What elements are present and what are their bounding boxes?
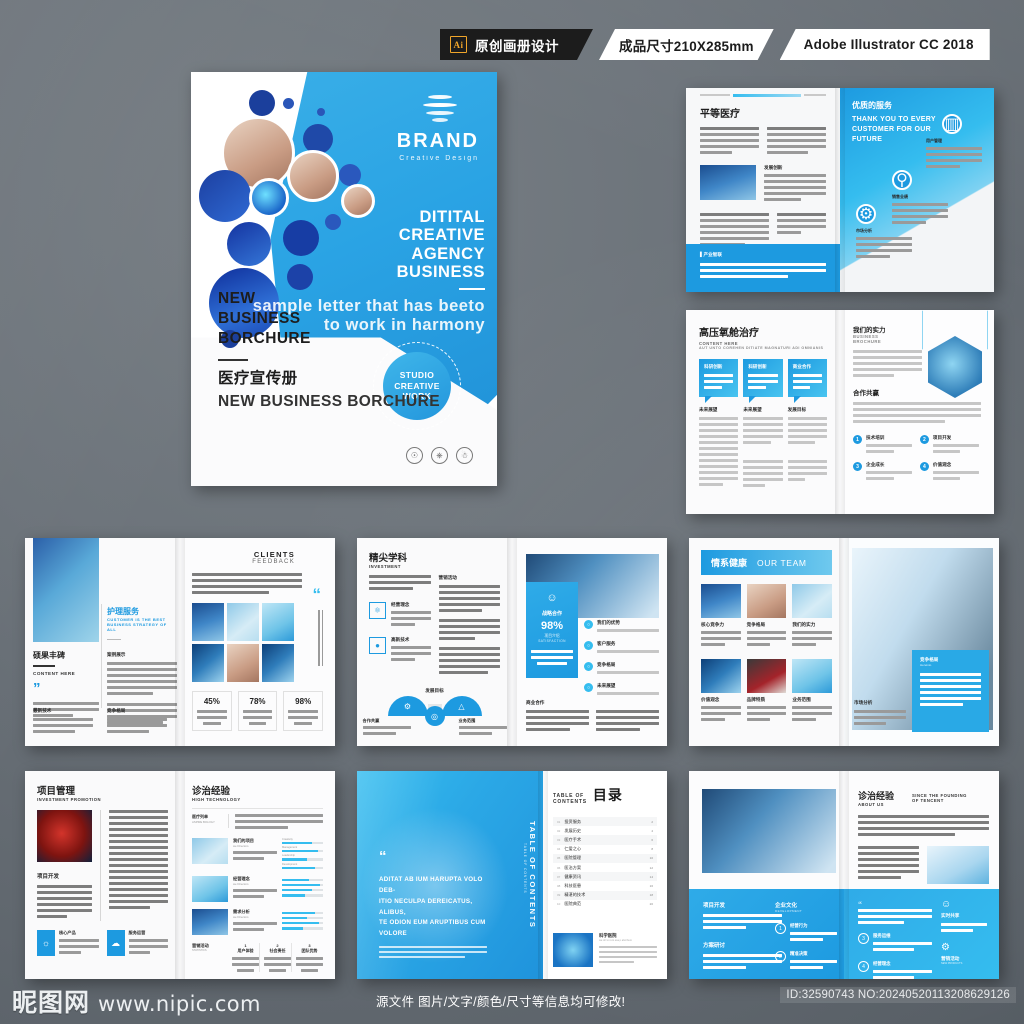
num-badge-4: 4: [920, 462, 929, 471]
brand-block: BRAND Creative Design: [369, 130, 479, 162]
about-title-en: ABOUT US: [858, 802, 894, 807]
numbered-item-4: 4 价值观念: [920, 462, 979, 483]
spread-our-team: 情系健康 OUR TEAM 核心竞争力 竞争格局 我们的实力: [689, 538, 999, 746]
stat-item-2: 2 社会责任: [264, 943, 292, 972]
investment-title: 精尖学科: [369, 550, 500, 564]
site-logo: 昵图网 www.nipic.com: [12, 983, 261, 1019]
trophy-icon: ☺: [941, 899, 987, 910]
our-strength-en-2: BROCHURE: [853, 339, 922, 344]
toc-row[interactable]: 07健康资讯14: [553, 872, 657, 881]
toc-row[interactable]: 06医治方案12: [553, 863, 657, 872]
list-label-1: 我们的优势: [597, 620, 659, 626]
card-1-sub: 未来展望: [699, 407, 738, 413]
blue-label-3: 服务运维: [873, 933, 932, 939]
spread-table-of-contents: “ ADITAT AB IUM HARUPTA VOLO DEB- ITIO N…: [357, 771, 667, 979]
spread-about-us: 项目开发 方案研讨 企业文化 DEVELOPMENT 1 经营行为 2 精准决策: [689, 771, 999, 979]
blue-num-4: 4: [858, 961, 869, 972]
nursing-service-title: 护理服务: [107, 606, 177, 617]
ai-icon: Ai: [450, 36, 467, 53]
industry-link-label: ▌产业智联: [700, 252, 826, 258]
toc-row[interactable]: 04仁爱之心8: [553, 845, 657, 854]
team-label-5: 品牌特质: [747, 697, 787, 703]
numbered-item-2: 2 项目开发: [920, 435, 979, 456]
cover-title-1: NEW: [218, 289, 440, 309]
share-icon: ⚙: [388, 696, 428, 716]
num-label-2: 项目开发: [933, 435, 979, 441]
develop-innovate-label: 发展创新: [764, 165, 826, 171]
about-right-en-2: OF TENCENT: [912, 798, 967, 803]
cover-title-3: BORCHURE: [218, 329, 440, 349]
strategy-value: 98%: [531, 620, 573, 632]
num-badge-2: 2: [920, 435, 929, 444]
team-cell-1: 核心竞争力: [701, 584, 741, 649]
step-market-analysis: ⚙ 市场分析: [856, 204, 912, 261]
brand-tagline: Creative Design: [369, 155, 479, 162]
num-label-3: 企业成长: [866, 462, 912, 468]
list-label-4: 未来展望: [597, 683, 659, 689]
card-3: 商业合作 发展目标: [788, 359, 827, 490]
blue-num-item-3: 3 服务运维: [858, 933, 932, 954]
cover-headline-1: DITITAL: [191, 208, 485, 226]
step-user-management: ▥ 用户管理: [926, 114, 982, 171]
cover-headline-3: AGENCY: [191, 245, 485, 263]
step-1-label: 用户管理: [926, 138, 982, 144]
step-3-label: 市场分析: [856, 228, 912, 234]
numbered-item-3: 3 企业成长: [853, 462, 912, 483]
spread-clients-feedback: 硕果丰碑 CONTENT HERE ” 护理服务 CUSTOMER IS THE…: [25, 538, 335, 746]
lock-icon: ⎈: [431, 447, 448, 464]
feature-1: ⚛ 经营理念: [369, 602, 431, 629]
project-mgmt-title: 项目管理: [37, 783, 168, 797]
diag-row-2-sub: we Directors: [233, 882, 277, 886]
quote-open-icon: “: [313, 590, 322, 599]
team-label-6: 业务范围: [792, 697, 832, 703]
achievements-title: 硕果丰碑: [33, 650, 99, 661]
development-goal-label: 发展目标: [357, 688, 512, 694]
achievements-subtitle: CONTENT HERE: [33, 671, 99, 676]
team-label-2: 竞争格局: [747, 622, 787, 628]
bar-label-1d: Development: [282, 863, 323, 866]
corp-culture-label: 企业文化: [775, 901, 837, 909]
user-icon: ☃: [456, 447, 473, 464]
diag-row-3-sub: we Directors: [233, 915, 277, 919]
about-title-cn: 诊治经验: [858, 789, 894, 802]
toc-quote-1: ADITAT AB IUM HARUPTA VOLO DEB-: [379, 875, 487, 897]
ribbon-size-tag: 成品尺寸210X285mm: [599, 29, 774, 60]
blue-far-label-1: 实时共享: [941, 913, 987, 919]
footer-bar: 昵图网 www.nipic.com 源文件 图片/文字/颜色/尺寸等信息均可修改…: [0, 985, 1024, 1024]
bl-card-1-label: 核心产品: [59, 930, 99, 936]
chart-icon: ▥: [942, 114, 962, 134]
num-label-4: 价值观念: [933, 462, 979, 468]
team-banner: 情系健康 OUR TEAM: [701, 550, 832, 575]
blue-num-2: 2: [775, 951, 786, 962]
strategy-panel: ☺ 战略合作 98% 项目介绍 SATISFACTION: [526, 582, 578, 678]
cover-title-divider: [218, 359, 248, 361]
team-label-1: 核心竞争力: [701, 622, 741, 628]
competition-label: 竞争格局: [107, 708, 167, 714]
case-display-label: 案例展示: [107, 652, 177, 658]
step-2-label: 销售业绩: [892, 194, 948, 200]
brand-name: BRAND: [369, 130, 479, 153]
team-banner-cn: 情系健康: [711, 556, 747, 569]
feedback-title: FEEDBACK: [192, 559, 295, 565]
share-icon: ⚙: [941, 942, 987, 953]
toc-card-sub: we oh to rent esa p aborbum: [599, 939, 657, 942]
toc-row[interactable]: 05医院管理10: [553, 854, 657, 863]
card-2-title: 科研创新: [748, 364, 777, 370]
stat-card-3: 98%: [283, 691, 323, 731]
num-badge-3: 3: [853, 462, 862, 471]
top-ribbon: Ai 原创画册设计 成品尺寸210X285mm Adobe Illustrato…: [440, 29, 990, 60]
medical-list-en: ASPIRE BOLOGY: [192, 820, 222, 824]
toc-quote-4: VOLORE: [379, 929, 487, 940]
cover-title-2: BUSINESS: [218, 309, 440, 329]
stat-card-2: 78%: [238, 691, 278, 731]
card-1-title: 科研创新: [704, 364, 733, 370]
competition-card-sub: Hereinto: [920, 663, 981, 667]
cover-title-block: NEW BUSINESS BORCHURE 医疗宣传册 NEW BUSINESS…: [218, 289, 440, 412]
card-2-sub: 未来展望: [743, 407, 782, 413]
spread-project-management: 项目管理 INVESTMENT PROMOTION 项目开发 ☼ 核心产品 ☁ …: [25, 771, 335, 979]
feature-2-label: 高新技术: [391, 637, 431, 643]
diag-row-2: 经营理念 we Directors: [192, 876, 323, 902]
stat-item-3: 3 团队优势: [296, 943, 323, 972]
cover-icon-row: ☉ ⎈ ☃: [406, 447, 473, 464]
bullet-icon-3: ○: [584, 662, 593, 671]
numbered-item-1: 1 技术培训: [853, 435, 912, 456]
num-label-1: 技术培训: [866, 435, 912, 441]
gear-icon: ⚙: [856, 204, 876, 224]
toc-side-label: TABLE OF CONTENTS: [528, 821, 537, 928]
toc-quote-icon: “: [379, 853, 387, 861]
site-logo-cn: 昵图网: [12, 983, 90, 1019]
list-label-2: 客户服务: [597, 641, 659, 647]
toc-row[interactable]: 10医院典范20: [553, 900, 657, 909]
network-icon: ⚛: [369, 602, 386, 619]
clients-title: CLIENTS: [192, 550, 295, 559]
bar-label-1b: Management: [282, 846, 323, 849]
site-logo-url: www.nipic.com: [98, 992, 261, 1016]
team-cell-4: 价值观念: [701, 659, 741, 724]
stat-value-2: 78%: [243, 697, 273, 706]
ribbon-original-label: 原创画册设计: [475, 35, 559, 55]
cover-title-cn: 医疗宣传册: [218, 368, 440, 388]
diag-row-1: 我们的项目 we Directors Creativity Management…: [192, 838, 323, 869]
toc-feature-card: 科学医院 we oh to rent esa p aborbum: [553, 933, 657, 967]
project-mgmt-subtitle: INVESTMENT PROMOTION: [37, 797, 168, 802]
list-label-3: 竞争格局: [597, 662, 659, 668]
card-1: 科研创新 未来展望: [699, 359, 738, 490]
latest-tech-label: 最新技术: [33, 708, 93, 714]
blue-num-item-2: 2 精准决策: [775, 951, 837, 972]
market-analysis-label: 市场分析: [854, 700, 906, 706]
arc-label-1: 合作共赢: [363, 718, 411, 724]
toc-row[interactable]: 01投资服务2: [553, 817, 657, 826]
team-label-3: 我们的实力: [792, 622, 832, 628]
team-banner-en: OUR TEAM: [757, 558, 807, 568]
diag-row-1-sub: we Directors: [233, 844, 277, 848]
card-3-sub: 发展目标: [788, 407, 827, 413]
hyperbaric-title: 高压氧舱治疗: [699, 324, 827, 339]
bullet-icon-2: ○: [584, 641, 593, 650]
card-2: 科研创新 未来展望: [743, 359, 782, 490]
team-label-4: 价值观念: [701, 697, 741, 703]
search-icon: ⚲: [892, 170, 912, 190]
ribbon-original-tag: Ai 原创画册设计: [440, 29, 593, 60]
list-item-2: ○ 客户服务: [584, 641, 659, 656]
blue-far-sub-2: NEW PRODUCTS: [941, 962, 987, 965]
arc-label-2: 业务范围: [459, 718, 507, 724]
cloud-icon: ☁: [107, 930, 125, 956]
team-cell-3: 我们的实力: [792, 584, 832, 649]
bl-card-1: ☼ 核心产品: [37, 930, 99, 957]
toc-quote-3: TE ODION EUM ARUPTIBUS CUM: [379, 918, 487, 929]
cover-page: BRAND Creative Design DITITAL CREATIVE A…: [191, 72, 497, 486]
blue-label-4: 经营理念: [873, 961, 932, 967]
people-icon: ☺: [531, 592, 573, 604]
team-cell-6: 业务范围: [792, 659, 832, 724]
bullet-icon-4: ○: [584, 683, 593, 692]
brand-logo-icon: [423, 92, 457, 126]
toc-row[interactable]: 03医疗手术6: [553, 835, 657, 844]
toc-list: 01投资服务2 02发展历史4 03医疗手术6 04仁爱之心8 05医院管理10…: [553, 817, 657, 909]
toc-quote-2: ITIO NECULPA DEREICATUS, ALIBUS,: [379, 897, 487, 919]
strategy-sub-en: SATISFACTION: [531, 639, 573, 643]
marketing-label: 营销活动: [439, 575, 501, 581]
pin-icon: ●: [369, 637, 386, 654]
hyperbaric-subtitle-2: AUT UNTO COREHEN DITIATE MAGNATURI ADI O…: [699, 346, 827, 350]
stat-value-1: 45%: [197, 697, 227, 706]
corp-culture-sub: DEVELOPMENT: [775, 909, 837, 913]
toc-cn-title: 目录: [593, 785, 623, 805]
bar-label-1c: Leadership: [282, 854, 323, 857]
bar-label-1a: Creativity: [282, 838, 323, 841]
business-coop-label: 商业合作: [526, 700, 659, 706]
spread-equal-medical: 平等医疗 发展创新 ▌产业智联 优质的服务: [686, 88, 994, 292]
cover-headline-4: BUSINESS: [191, 263, 485, 281]
stat-value-3: 98%: [288, 697, 318, 706]
diagnosis-subtitle: HIGH TECHNOLOGY: [192, 797, 323, 802]
footer-note: 源文件 图片/文字/颜色/尺寸等信息均可修改!: [376, 991, 625, 1010]
blue-num-item-1: 1 经营行为: [775, 923, 837, 944]
card-3-title: 商业合作: [793, 364, 822, 370]
competition-card: 竞争格局 Hereinto: [912, 650, 989, 732]
stat-item-1: 1 用户体验: [232, 943, 260, 972]
blue-num-1: 1: [775, 923, 786, 934]
cover-title-cn-en: NEW BUSINESS BORCHURE: [218, 392, 440, 412]
toc-row[interactable]: 02发展历史4: [553, 826, 657, 835]
stat-card-1: 45%: [192, 691, 232, 731]
feature-2: ● 高新技术: [369, 637, 431, 664]
quote-mark-icon: ”: [33, 684, 99, 693]
feature-1-label: 经营理念: [391, 602, 431, 608]
toc-side-sublabel: TABLE OF CONTENTS: [523, 843, 527, 894]
equal-medical-title: 平等医疗: [700, 105, 826, 120]
toc-row[interactable]: 09精湛的技术18: [553, 891, 657, 900]
bl-card-2: ☁ 服务运营: [107, 930, 169, 957]
spread-hyperbaric: 高压氧舱治疗 CONTENT HERE AUT UNTO COREHEN DIT…: [686, 310, 994, 514]
toc-en-2: CONTENTS: [553, 799, 587, 805]
toc-row[interactable]: 08科技医患16: [553, 881, 657, 890]
blue-label-1: 经营行为: [790, 923, 837, 929]
our-strength-title: 我们的实力: [853, 324, 922, 334]
diagnosis-title: 诊治经验: [192, 783, 323, 797]
blue-num-item-4: 4 经营理念: [858, 961, 932, 979]
stat-label-3: 团队优势: [296, 948, 323, 954]
quality-service-title: 优质的服务: [852, 100, 984, 111]
nursing-en-2: BUSINESS STRATEGY OF ALL: [107, 622, 177, 632]
list-item-4: ○ 未来展望: [584, 683, 659, 698]
ribbon-software-tag: Adobe Illustrator CC 2018: [780, 29, 990, 60]
wifi-icon: ☼: [37, 930, 55, 956]
stat-label-2: 社会责任: [264, 948, 291, 954]
blue-num-3: 3: [858, 933, 869, 944]
team-cell-5: 品牌特质: [747, 659, 787, 724]
list-item-3: ○ 竞争格局: [584, 662, 659, 677]
stats-title-en: STATISTICS: [192, 949, 226, 952]
diag-row-3: 需求分析 we Directors: [192, 909, 323, 935]
bullet-icon-1: ○: [584, 620, 593, 629]
bl-card-2-label: 服务运营: [129, 930, 169, 936]
num-badge-1: 1: [853, 435, 862, 444]
rocket-icon: △: [442, 696, 482, 716]
spread-investment: 精尖学科 INVESTMENT ⚛ 经营理念 ● 高新技术 营销活动: [357, 538, 667, 746]
project-dev-label: 项目开发: [37, 872, 92, 880]
globe-icon: ☉: [406, 447, 423, 464]
list-item-1: ○ 我们的优势: [584, 620, 659, 635]
cover-rule: [459, 288, 485, 291]
cover-headline-2: CREATIVE: [191, 226, 485, 244]
investment-subtitle: INVESTMENT: [369, 564, 500, 569]
blue-label-2: 精准决策: [790, 951, 837, 957]
target-icon: ◎: [425, 706, 445, 726]
footer-id: ID:32590743 NO:20240520113208629126: [780, 987, 1016, 1003]
stat-label-1: 用户体验: [232, 948, 259, 954]
team-cell-2: 竞争格局: [747, 584, 787, 649]
strategy-label: 战略合作: [531, 610, 573, 617]
